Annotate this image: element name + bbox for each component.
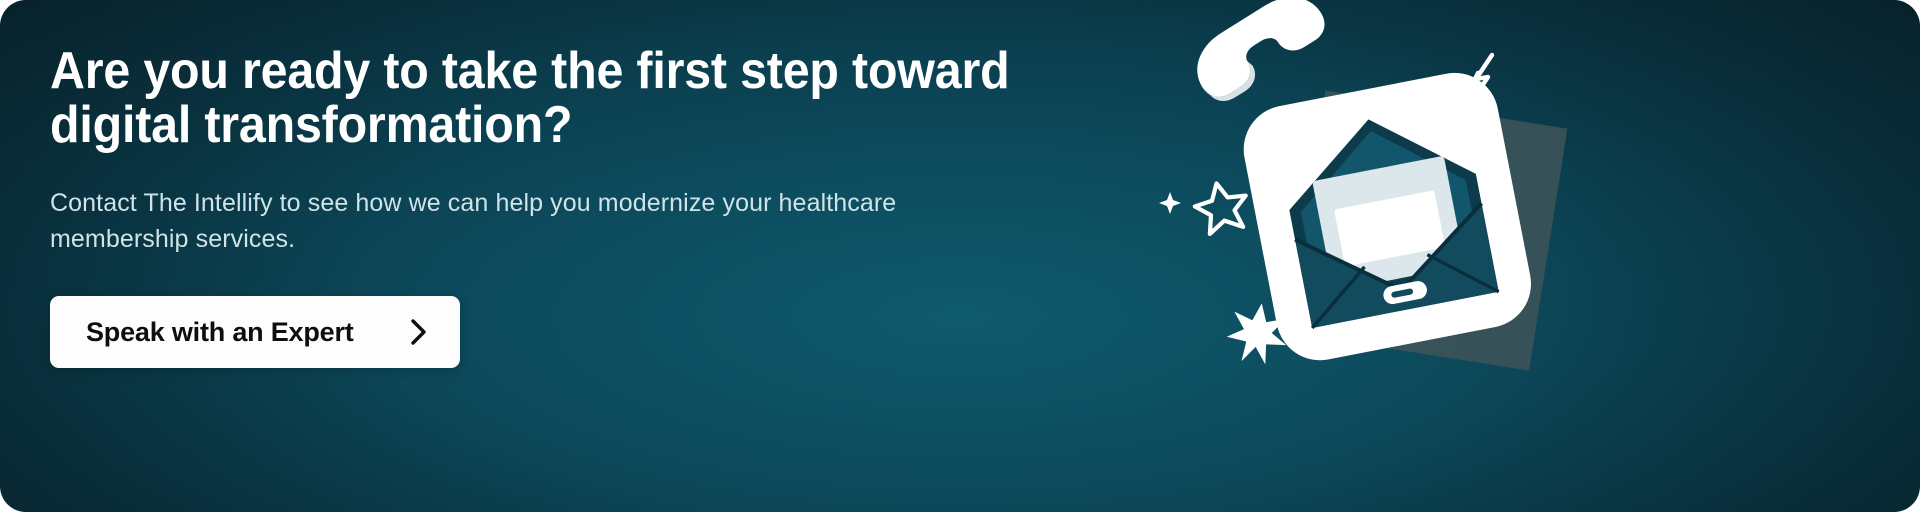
small-sparkle-icon	[1159, 192, 1181, 214]
cta-banner: Are you ready to take the first step tow…	[0, 0, 1920, 512]
email-contact-illustration	[1140, 0, 1920, 512]
banner-content: Are you ready to take the first step tow…	[50, 0, 1140, 512]
banner-description: Contact The Intellify to see how we can …	[50, 185, 1010, 257]
page-title: Are you ready to take the first step tow…	[50, 44, 1036, 152]
speak-with-an-expert-button[interactable]: Speak with an Expert	[50, 296, 460, 368]
cta-button-label: Speak with an Expert	[86, 317, 354, 348]
phone-handset-icon	[1183, 0, 1335, 109]
white-rounded-square-card	[1236, 65, 1538, 367]
star-outline-icon	[1191, 178, 1252, 236]
chevron-right-icon	[408, 317, 430, 347]
